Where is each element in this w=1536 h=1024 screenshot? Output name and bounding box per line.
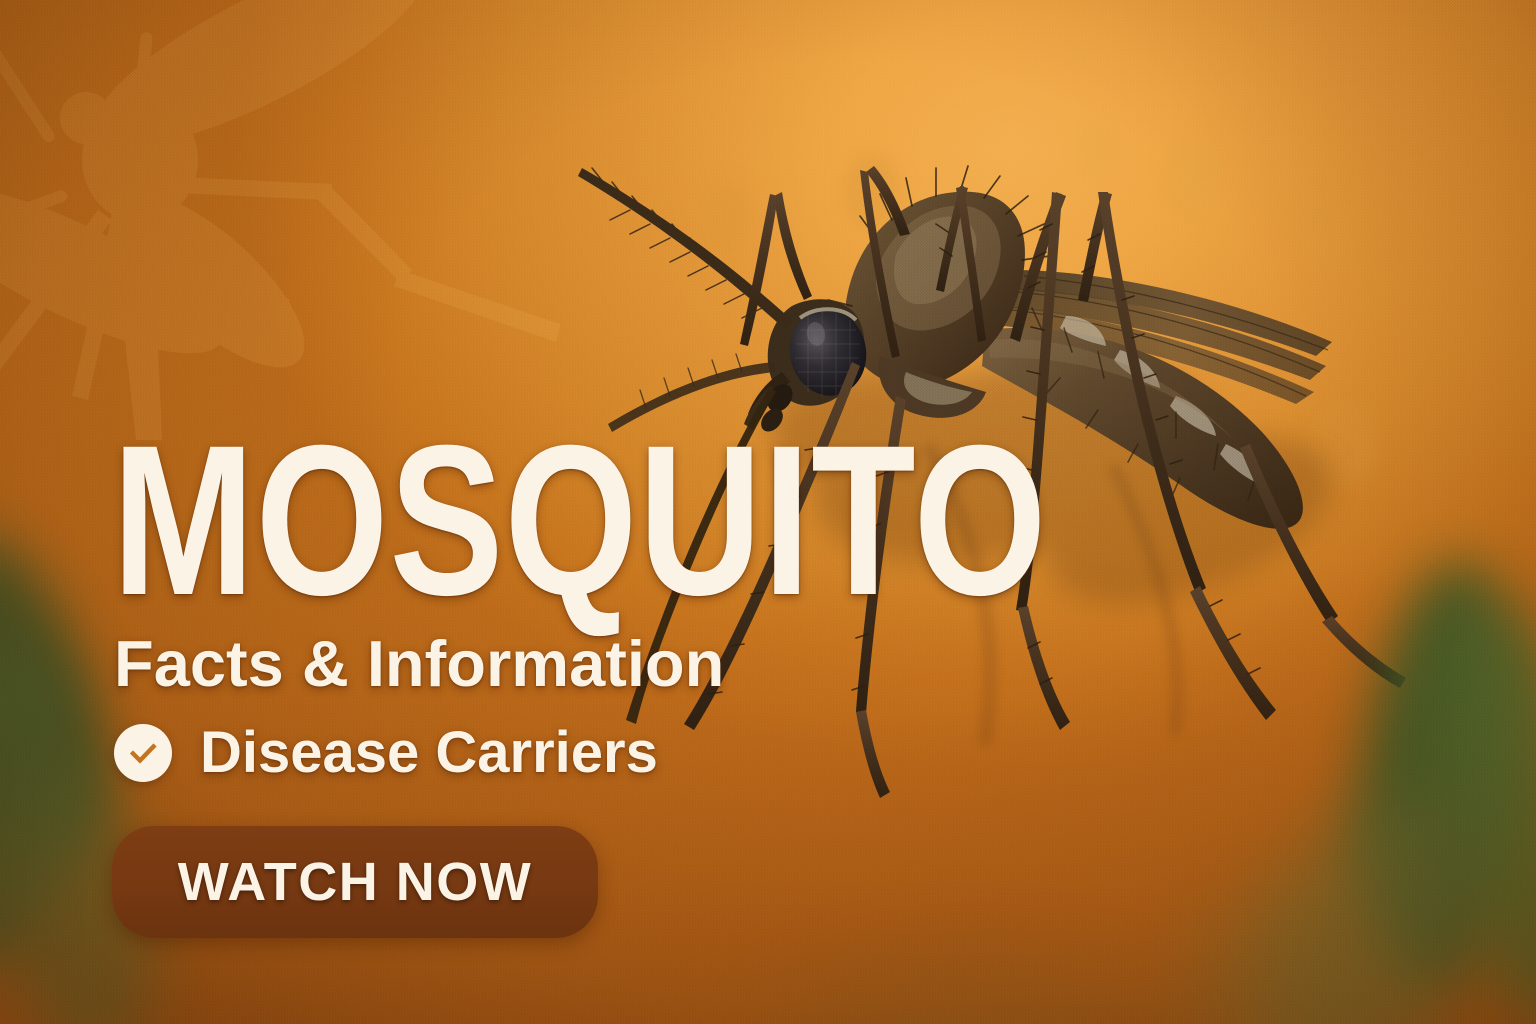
banner-canvas: MOSQUITO Facts & Information Disease Car… — [0, 0, 1536, 1024]
feature-bullet: Disease Carriers — [114, 724, 1012, 782]
banner-text-block: MOSQUITO Facts & Information Disease Car… — [112, 438, 1012, 938]
page-title: MOSQUITO — [112, 438, 832, 605]
watch-now-button-label: WATCH NOW — [178, 851, 532, 913]
feature-bullet-label: Disease Carriers — [200, 724, 658, 782]
page-subtitle: Facts & Information — [114, 631, 1012, 696]
watch-now-button[interactable]: WATCH NOW — [112, 826, 598, 938]
check-circle-icon — [114, 724, 172, 782]
